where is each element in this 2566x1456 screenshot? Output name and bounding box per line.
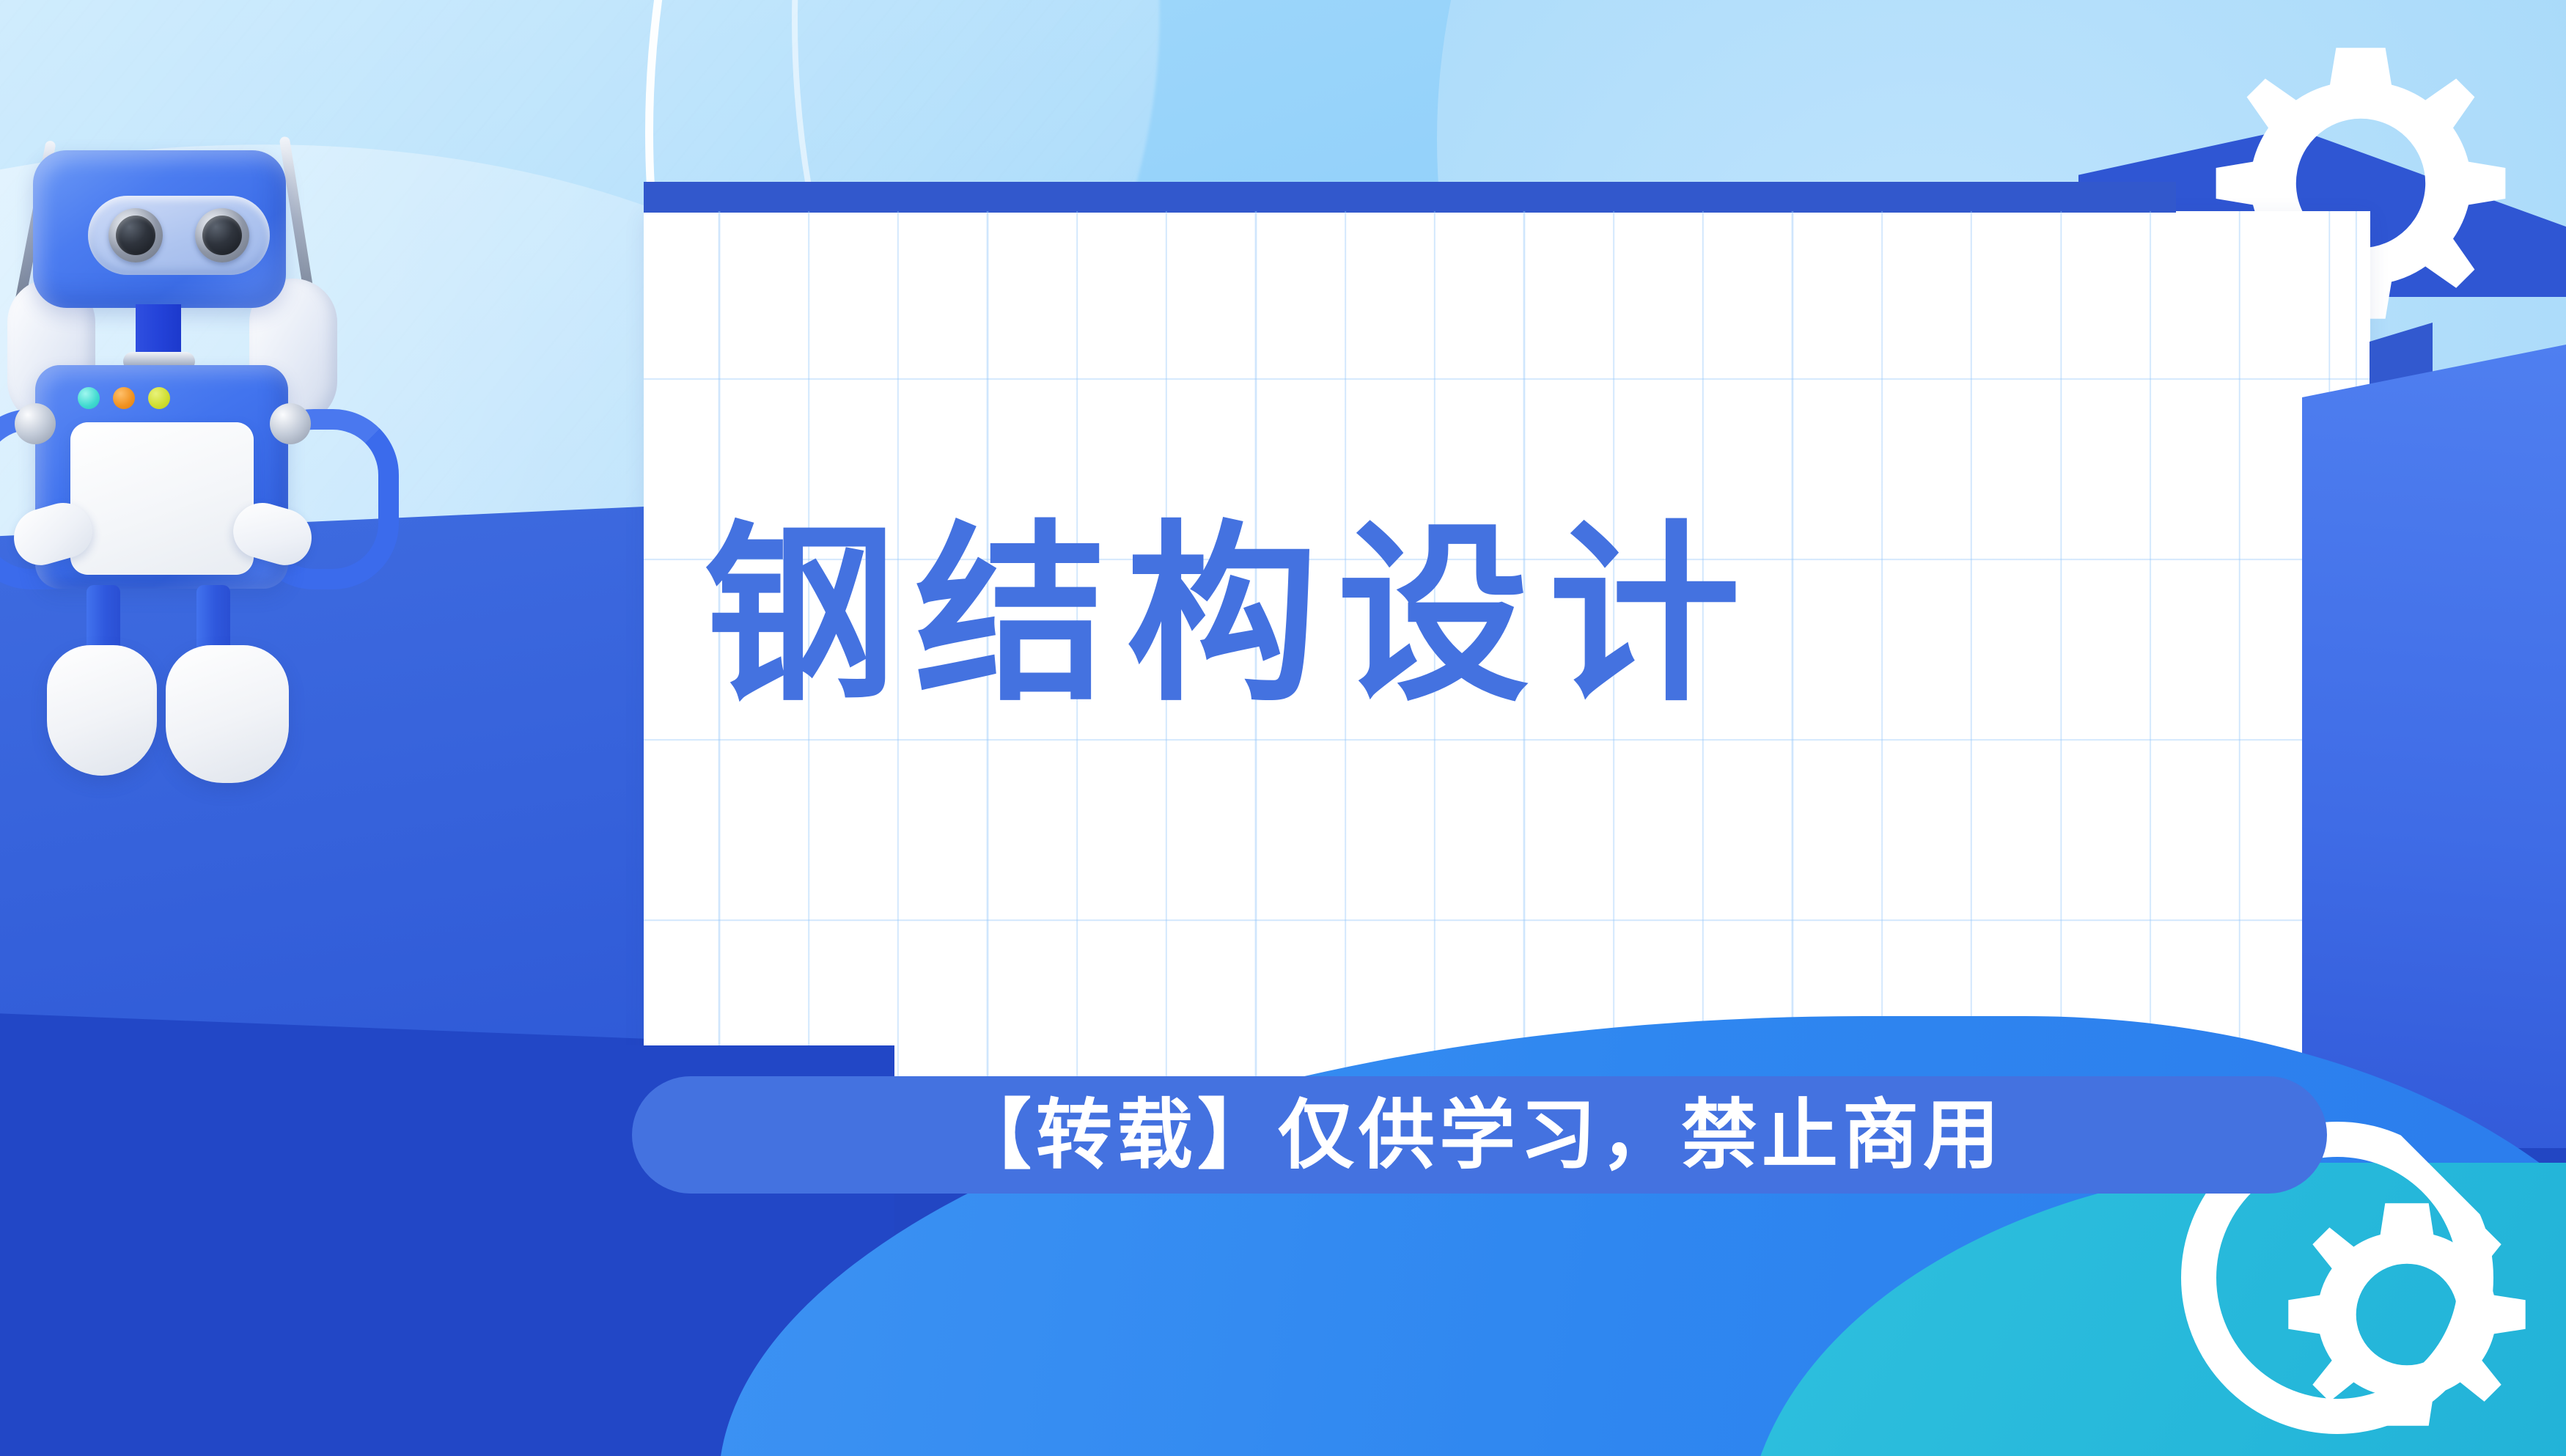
robot-chest-screen (70, 422, 254, 575)
robot-head (33, 150, 286, 308)
notice-banner: 【转载】仅供学习，禁止商用 (632, 1076, 2327, 1194)
robot-eye-left-icon (109, 208, 163, 262)
robot-visor (88, 196, 270, 275)
robot-foot-right (166, 645, 289, 783)
card-top-bar (644, 182, 2176, 213)
robot-eye-right-icon (195, 208, 249, 262)
robot-indicator-light-yellow (148, 387, 170, 409)
robot-foot-left (47, 645, 157, 776)
robot-shoulder-left (15, 403, 56, 444)
robot-indicator-light-cyan (78, 387, 100, 409)
robot-mascot (0, 59, 696, 1378)
page-title: 钢结构设计 (704, 506, 2258, 726)
robot-shoulder-right (270, 403, 311, 444)
poster-canvas: 钢结构设计 【转载】仅供学习，禁止商用 (0, 0, 2566, 1456)
robot-indicator-light-orange (113, 387, 135, 409)
notice-banner-text: 【转载】仅供学习，禁止商用 (955, 1097, 2004, 1173)
